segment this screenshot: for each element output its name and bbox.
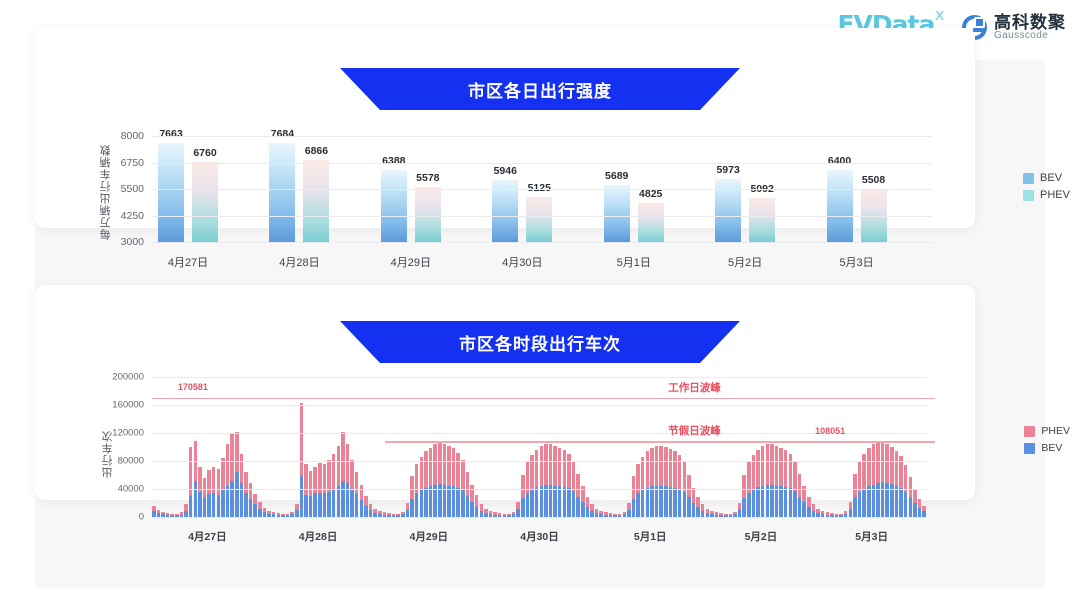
chart2-phev-segment <box>521 475 525 498</box>
chart2-bev-segment <box>217 495 221 517</box>
chart1-bar-value: 5973 <box>700 164 756 176</box>
chart2-stacked-bar[interactable] <box>655 446 659 517</box>
chart2-phev-segment <box>207 470 211 494</box>
chart2-bev-segment <box>567 488 571 517</box>
chart2-phev-segment <box>170 514 174 516</box>
chart2-stacked-bar[interactable] <box>540 446 544 517</box>
chart2-stacked-bar[interactable] <box>230 434 234 517</box>
chart2-phev-segment <box>826 512 830 514</box>
chart2-phev-segment <box>632 476 636 498</box>
chart2-stacked-bar[interactable] <box>406 503 410 517</box>
chart2-bev-segment <box>323 493 327 517</box>
chart2-phev-segment <box>503 514 507 516</box>
chart2-phev-segment <box>784 450 788 487</box>
chart2-phev-segment <box>309 471 313 496</box>
chart2-stacked-bar[interactable] <box>415 464 419 517</box>
chart2-bev-segment <box>881 482 885 517</box>
chart2-y-tick: 160000 <box>100 400 144 411</box>
chart2-bev-segment <box>355 494 359 517</box>
chart2-bev-segment <box>346 483 350 517</box>
chart2-stacked-bar[interactable] <box>530 455 534 517</box>
chart2-phev-segment <box>904 465 908 492</box>
chart2-phev-segment <box>590 504 594 510</box>
chart2-bev-segment <box>683 492 687 517</box>
chart2-stacked-bar[interactable] <box>669 449 673 517</box>
chart2-legend-label: BEV <box>1041 442 1062 454</box>
chart2-stacked-bar[interactable] <box>779 448 783 517</box>
chart2-phev-segment <box>761 446 765 485</box>
chart2-stacked-bar[interactable] <box>212 467 216 517</box>
chart2-phev-segment <box>466 472 470 496</box>
chart1-legend-item[interactable]: BEV <box>1023 172 1070 184</box>
chart2-bev-segment <box>410 499 414 517</box>
chart2-phev-segment <box>512 512 516 514</box>
chart2-bev-segment <box>194 481 198 517</box>
chart2-stacked-bar[interactable] <box>516 502 520 517</box>
chart2-stacked-bar[interactable] <box>221 458 225 518</box>
chart2-x-tick: 5月1日 <box>634 529 667 544</box>
chart2-stacked-bar[interactable] <box>590 504 594 517</box>
chart2-bev-segment <box>885 483 889 517</box>
chart2-stacked-bar[interactable] <box>346 444 350 518</box>
chart2-bev-segment <box>659 486 663 518</box>
gausscode-english-name: Gausscode <box>994 31 1066 42</box>
chart2-stacked-bar[interactable] <box>595 509 599 517</box>
chart2-stacked-bar[interactable] <box>535 450 539 517</box>
chart2-stacked-bar[interactable] <box>369 504 373 517</box>
chart2-stacked-bar[interactable] <box>549 444 553 518</box>
chart2-stacked-bar[interactable] <box>300 403 304 517</box>
chart1-gridline <box>152 163 932 164</box>
chart2-phev-segment <box>456 453 460 488</box>
chart2-bev-segment <box>563 487 567 517</box>
chart2-stacked-bar[interactable] <box>876 441 880 517</box>
chart1-bar-value: 6400 <box>812 155 868 167</box>
chart2-stacked-bar[interactable] <box>355 472 359 518</box>
chart2-phev-segment <box>433 444 437 485</box>
evdata-x-icon: X <box>935 9 944 22</box>
chart2-stacked-bar[interactable] <box>641 457 645 517</box>
chart2-stacked-bar[interactable] <box>235 432 239 517</box>
chart2-stacked-bar[interactable] <box>304 464 308 517</box>
chart2-legend-item[interactable]: BEV <box>1024 442 1070 454</box>
chart2-phev-segment <box>447 446 451 485</box>
chart2-stacked-bar[interactable] <box>337 446 341 517</box>
chart2-phev-segment <box>480 504 484 510</box>
chart2-stacked-bar[interactable] <box>207 470 211 517</box>
chart2-bev-segment <box>853 497 857 517</box>
chart2-bev-segment <box>862 489 866 517</box>
chart1-x-tick: 4月28日 <box>279 254 319 270</box>
chart2-stacked-bar[interactable] <box>756 450 760 517</box>
chart2-bev-segment <box>420 490 424 517</box>
chart1-y-tick: 4250 <box>104 210 144 222</box>
chart1-bar-phev[interactable]: 5125 <box>526 197 552 242</box>
chart2-phev-segment <box>724 514 728 516</box>
chart2-bev-segment <box>212 493 216 517</box>
chart2-stacked-bar[interactable] <box>558 448 562 517</box>
chart2-phev-segment <box>180 512 184 514</box>
chart2-stacked-bar[interactable] <box>581 486 585 517</box>
chart2-stacked-bar[interactable] <box>706 509 710 517</box>
chart2-phev-segment <box>429 448 433 487</box>
chart2-stacked-bar[interactable] <box>918 499 922 517</box>
chart2-stacked-bar[interactable] <box>484 509 488 517</box>
chart2-phev-segment <box>166 513 170 515</box>
chart2-bev-segment <box>913 503 917 517</box>
chart2-bev-segment <box>895 486 899 518</box>
chart2-stacked-bar[interactable] <box>752 455 756 517</box>
chart2-phev-segment <box>249 483 253 498</box>
chart2-phev-segment <box>553 446 557 486</box>
chart2-phev-segment <box>493 512 497 514</box>
chart2-bev-segment <box>249 499 253 517</box>
chart2-stacked-bar[interactable] <box>650 448 654 517</box>
chart2-bev-segment <box>572 491 576 517</box>
chart2-stacked-bar[interactable] <box>364 496 368 517</box>
chart2-stacked-bar[interactable] <box>812 504 816 517</box>
chart2-stacked-bar[interactable] <box>696 497 700 517</box>
chart2-bev-segment <box>369 510 373 517</box>
chart2-stacked-bar[interactable] <box>567 454 571 517</box>
chart2-stacked-bar[interactable] <box>913 489 917 517</box>
chart2-phev-segment <box>793 461 797 491</box>
chart2-stacked-bar[interactable] <box>198 467 202 517</box>
chart2-stacked-bar[interactable] <box>775 446 779 517</box>
chart2-stacked-bar[interactable] <box>789 454 793 517</box>
chart2-stacked-bar[interactable] <box>429 448 433 517</box>
chart2-phev-segment <box>659 446 663 486</box>
chart2-bev-segment <box>742 498 746 517</box>
chart2-phev-segment <box>715 512 719 514</box>
chart2-stacked-bar[interactable] <box>443 444 447 517</box>
chart2-stacked-bar[interactable] <box>692 488 696 517</box>
chart2-stacked-bar[interactable] <box>807 497 811 517</box>
chart2-phev-segment <box>816 509 820 513</box>
chart2-gridline <box>152 433 927 434</box>
chart2-gridline <box>152 489 927 490</box>
chart2-stacked-bar[interactable] <box>881 441 885 517</box>
chart2-stacked-bar[interactable] <box>157 510 161 517</box>
chart2-phev-segment <box>604 512 608 514</box>
chart2-phev-segment <box>669 449 673 487</box>
chart2-stacked-bar[interactable] <box>313 467 317 517</box>
chart2-phev-segment <box>253 494 257 505</box>
chart2-bev-segment <box>669 487 673 517</box>
chart2-stacked-bar[interactable] <box>240 454 244 517</box>
chart2-stacked-bar[interactable] <box>849 502 853 517</box>
chart2-bev-segment <box>521 498 525 517</box>
chart2-x-tick: 5月2日 <box>745 529 778 544</box>
chart2-phev-segment <box>226 444 230 486</box>
chart2-bev-segment <box>798 497 802 517</box>
chart1-bar-phev[interactable]: 4825 <box>638 203 664 242</box>
chart2-bev-segment <box>909 497 913 517</box>
chart2-bev-segment <box>198 492 202 517</box>
chart2-stacked-bar[interactable] <box>521 475 525 517</box>
chart2-phev-segment <box>687 475 691 497</box>
chart2-phev-segment <box>267 511 271 514</box>
chart2-stacked-bar[interactable] <box>890 447 894 517</box>
chart2-legend-swatch <box>1024 443 1035 454</box>
chart1-bar-value: 4825 <box>623 188 679 200</box>
chart2-stacked-bar[interactable] <box>433 444 437 517</box>
chart2-stacked-bar[interactable] <box>701 504 705 517</box>
chart2-phev-segment <box>217 469 221 494</box>
chart2-stacked-bar[interactable] <box>738 503 742 517</box>
chart2-phev-segment <box>876 441 880 483</box>
chart2-stacked-bar[interactable] <box>332 454 336 517</box>
chart2-bev-segment <box>406 510 410 517</box>
chart2-stacked-bar[interactable] <box>563 450 567 517</box>
chart2-stacked-bar[interactable] <box>899 456 903 517</box>
chart2-bev-segment <box>784 487 788 517</box>
chart2-bev-segment <box>447 486 451 518</box>
chart2-bev-segment <box>429 486 433 517</box>
chart2-stacked-bar[interactable] <box>244 472 248 518</box>
chart2-stacked-bar[interactable] <box>152 506 156 517</box>
chart2-phev-segment <box>655 446 659 486</box>
chart2-phev-segment <box>821 511 825 514</box>
chart2-bev-segment <box>456 488 460 517</box>
chart2-stacked-bar[interactable] <box>632 476 636 517</box>
chart2-stacked-bar[interactable] <box>904 465 908 517</box>
chart2-phev-segment <box>609 513 613 515</box>
chart2-stacked-bar[interactable] <box>184 504 188 517</box>
chart2-stacked-bar[interactable] <box>410 476 414 517</box>
chart2-stacked-bar[interactable] <box>318 463 322 517</box>
chart2-phev-segment <box>337 446 341 487</box>
chart2-bev-segment <box>867 486 871 517</box>
chart2-stacked-bar[interactable] <box>687 475 691 517</box>
chart2-bev-segment <box>747 493 751 518</box>
chart1-bar-phev[interactable]: 6866 <box>303 160 329 242</box>
chart2-phev-segment <box>862 454 866 489</box>
chart2-phev-segment <box>438 442 442 484</box>
chart2-stacked-bar[interactable] <box>189 447 193 517</box>
chart2-bev-segment <box>526 493 530 518</box>
chart2-legend-item[interactable]: PHEV <box>1024 425 1070 437</box>
gausscode-wordmark: 高科数聚 Gausscode <box>994 14 1066 42</box>
chart1-bar-phev[interactable]: 5092 <box>749 198 775 242</box>
chart2-bev-segment <box>581 502 585 517</box>
chart1-gridline <box>152 242 932 243</box>
chart2-phev-segment <box>853 474 857 498</box>
chart2-phev-segment <box>346 444 350 483</box>
chart2-phev-segment <box>203 478 207 498</box>
chart2-bev-segment <box>673 488 677 517</box>
chart2-stacked-bar[interactable] <box>447 446 451 517</box>
chart2-stacked-bar[interactable] <box>226 444 230 518</box>
chart2-stacked-bar[interactable] <box>922 506 926 517</box>
chart2-gridline <box>152 461 927 462</box>
chart2-stacked-bar[interactable] <box>586 497 590 517</box>
chart2-stacked-bar[interactable] <box>253 494 257 517</box>
chart1-legend-item[interactable]: PHEV <box>1023 189 1070 201</box>
chart2-stacked-bar[interactable] <box>853 474 857 517</box>
chart2-phev-segment <box>516 502 520 509</box>
chart2-phev-segment <box>350 460 354 489</box>
chart2-bev-segment <box>258 509 262 517</box>
gausscode-chinese-name: 高科数聚 <box>994 14 1066 32</box>
chart2-bev-segment <box>687 497 691 517</box>
chart2-phev-segment <box>706 509 710 513</box>
chart2-phev-segment <box>410 476 414 498</box>
chart2-bev-segment <box>530 490 534 517</box>
chart2-phev-segment <box>922 506 926 512</box>
chart1-bar-value: 5508 <box>846 174 902 186</box>
chart2-bev-segment <box>802 502 806 517</box>
chart2-stacked-bar[interactable] <box>480 504 484 517</box>
chart1-y-tick: 6750 <box>104 157 144 169</box>
chart2-phev-segment <box>558 448 562 487</box>
chart2-bev-segment <box>752 490 756 517</box>
chart2-stacked-bar[interactable] <box>438 442 442 517</box>
chart2-gridline <box>152 377 927 378</box>
chart1-bar-value: 5578 <box>400 172 456 184</box>
chart2-stacked-bar[interactable] <box>784 450 788 517</box>
chart2-stacked-bar[interactable] <box>867 448 871 517</box>
chart2-phev-segment <box>835 514 839 516</box>
chart2-stacked-bar[interactable] <box>761 446 765 517</box>
chart2-bev-segment <box>632 499 636 517</box>
chart2-bev-segment <box>586 507 590 517</box>
chart2-phev-segment <box>563 450 567 487</box>
chart1-bar-value: 5946 <box>477 165 533 177</box>
chart2-bev-segment <box>207 494 211 517</box>
chart2-bev-segment <box>341 481 345 517</box>
chart2-phev-segment <box>364 496 368 506</box>
chart1-bar-bev[interactable]: 7684 <box>269 143 295 242</box>
weekday-peak-label: 工作日波峰 <box>668 380 721 395</box>
chart2-bev-segment <box>535 487 539 517</box>
chart2-bev-segment <box>313 493 317 517</box>
chart2-stacked-bar[interactable] <box>659 446 663 517</box>
chart2-stacked-bar[interactable] <box>263 508 267 517</box>
chart2-stacked-bar[interactable] <box>456 453 460 517</box>
chart2-stacked-bar[interactable] <box>544 444 548 517</box>
chart2-phev-segment <box>475 495 479 506</box>
gausscode-logo: 高科数聚 Gausscode <box>962 14 1066 42</box>
chart2-phev-segment <box>890 447 894 484</box>
chart2-phev-segment <box>664 447 668 486</box>
chart2-phev-segment <box>849 502 853 509</box>
chart2-stacked-bar[interactable] <box>802 486 806 517</box>
chart2-y-tick: 120000 <box>100 428 144 439</box>
holiday-peak-label: 节假日波峰 <box>668 423 721 438</box>
chart2-bev-segment <box>221 489 225 517</box>
chart2-stacked-bar[interactable] <box>909 477 913 517</box>
weekday-peak-line <box>152 398 935 399</box>
chart2-phev-segment <box>798 474 802 497</box>
chart2-phev-segment <box>673 451 677 487</box>
chart2-bev-segment <box>350 489 354 517</box>
chart2-bev-segment <box>858 492 862 517</box>
chart2-stacked-bar[interactable] <box>194 441 198 517</box>
chart2-stacked-bar[interactable] <box>816 509 820 517</box>
chart2-phev-segment <box>327 460 331 492</box>
chart2-stacked-bar[interactable] <box>341 432 345 517</box>
chart2-bev-segment <box>918 508 922 517</box>
chart2-stacked-bar[interactable] <box>678 455 682 517</box>
chart1-bar-value: 6388 <box>366 155 422 167</box>
chart2-stacked-bar[interactable] <box>872 444 876 517</box>
chart2-phev-segment <box>839 514 843 515</box>
chart2-stacked-bar[interactable] <box>766 444 770 517</box>
chart2-phev-segment <box>424 451 428 487</box>
chart2-phev-segment <box>696 497 700 508</box>
chart2-bev-segment <box>309 496 313 517</box>
chart2-stacked-bar[interactable] <box>627 503 631 517</box>
chart2-bev-segment <box>756 487 760 517</box>
chart2-phev-segment <box>221 458 225 490</box>
chart2-bev-segment <box>646 488 650 517</box>
chart2-stacked-bar[interactable] <box>770 444 774 517</box>
chart1-legend: BEVPHEV <box>1023 172 1070 206</box>
chart2-bev-segment <box>627 510 631 517</box>
chart2-stacked-bar[interactable] <box>862 454 866 517</box>
chart1-bar-phev[interactable]: 6760 <box>192 162 218 242</box>
chart2-phev-segment <box>157 510 161 514</box>
chart2-phev-segment <box>230 434 234 481</box>
chart2-stacked-bar[interactable] <box>742 475 746 517</box>
chart2-stacked-bar[interactable] <box>885 444 889 518</box>
chart1-x-tick: 4月27日 <box>168 254 208 270</box>
chart2-stacked-bar[interactable] <box>203 478 207 517</box>
chart2-stacked-bar[interactable] <box>217 469 221 517</box>
chart2-stacked-bar[interactable] <box>323 464 327 517</box>
chart2-phev-segment <box>733 512 737 514</box>
chart2-stacked-bar[interactable] <box>576 474 580 517</box>
chart2-bev-segment <box>304 495 308 517</box>
chart2-bev-segment <box>678 489 682 517</box>
chart2-bev-segment <box>650 486 654 517</box>
chart2-phev-segment <box>650 448 654 487</box>
chart2-stacked-bar[interactable] <box>553 446 557 517</box>
chart2-stacked-bar[interactable] <box>475 495 479 517</box>
chart2-stacked-bar[interactable] <box>420 457 424 517</box>
chart2-stacked-bar[interactable] <box>258 502 262 517</box>
chart2-bev-segment <box>452 486 456 517</box>
chart2-stacked-bar[interactable] <box>373 509 377 517</box>
chart2-phev-segment <box>161 512 165 514</box>
chart2-phev-segment <box>461 460 465 491</box>
chart2-y-tick: 0 <box>100 512 144 523</box>
chart2-stacked-bar[interactable] <box>295 504 299 517</box>
chart2-phev-segment <box>858 461 862 492</box>
chart2-phev-segment <box>392 514 396 516</box>
chart2-phev-segment <box>341 432 345 481</box>
chart1-bar-value: 7684 <box>254 128 310 140</box>
chart2-stacked-bar[interactable] <box>466 472 470 517</box>
chart1-title-banner: 市区各日出行强度 <box>340 68 740 110</box>
chart2-phev-segment <box>396 514 400 515</box>
chart2-bev-segment <box>244 493 248 518</box>
chart2-stacked-bar[interactable] <box>452 448 456 517</box>
chart2-stacked-bar[interactable] <box>636 464 640 517</box>
chart2-phev-segment <box>613 514 617 516</box>
holiday-peak-value: 108051 <box>815 426 845 436</box>
chart2-bev-segment <box>576 497 580 517</box>
chart2-stacked-bar[interactable] <box>664 447 668 517</box>
chart2-bev-segment <box>318 493 322 518</box>
chart2-phev-segment <box>719 513 723 515</box>
chart2-bev-segment <box>904 492 908 517</box>
chart2-stacked-bar[interactable] <box>309 471 313 517</box>
chart2-phev-segment <box>738 503 742 510</box>
chart2-stacked-bar[interactable] <box>798 474 802 517</box>
chart2-phev-segment <box>867 448 871 487</box>
